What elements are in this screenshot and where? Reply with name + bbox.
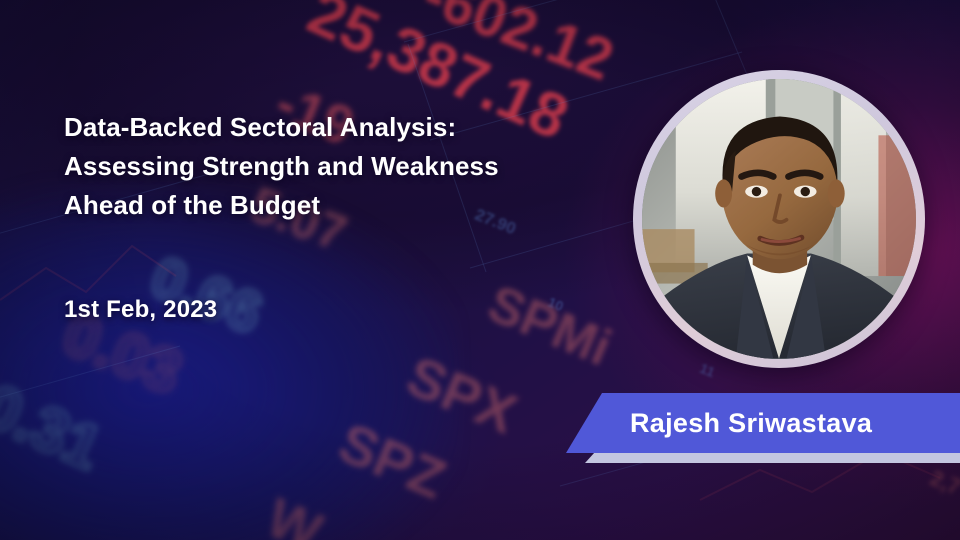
avatar: [633, 70, 925, 368]
name-banner: Rajesh Sriwastava: [566, 393, 960, 453]
title-line-1: Data-Backed Sectoral Analysis:: [64, 108, 624, 147]
avatar-photo-clip: [642, 79, 916, 359]
page-title: Data-Backed Sectoral Analysis: Assessing…: [64, 108, 624, 225]
portrait-photo-icon: [642, 79, 916, 359]
name-banner-underline: [585, 452, 960, 463]
title-line-3: Ahead of the Budget: [64, 186, 624, 225]
date-label: 1st Feb, 2023: [64, 296, 217, 324]
title-line-2: Assessing Strength and Weakness: [64, 147, 624, 186]
presenter-name: Rajesh Sriwastava: [630, 393, 872, 453]
presentation-slide: 25,387.18 -602.12 -19 5.07 0.66 0.03 0.3…: [0, 0, 960, 540]
